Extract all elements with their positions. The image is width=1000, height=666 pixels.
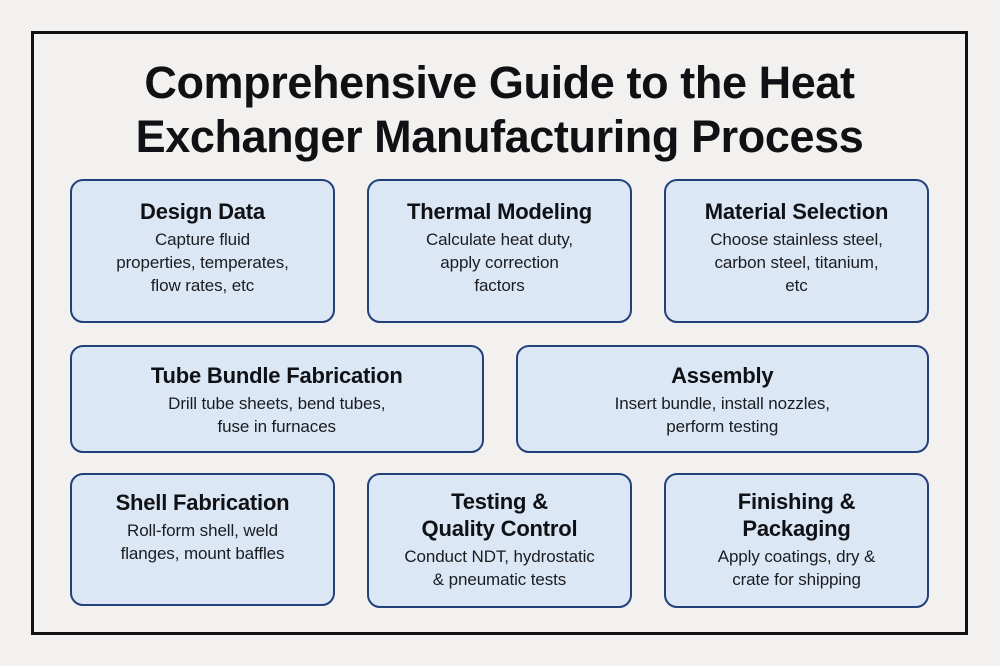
page-title: Comprehensive Guide to the Heat Exchange… (34, 34, 965, 164)
node-description: Choose stainless steel, carbon steel, ti… (710, 228, 883, 297)
process-node-shell-fabrication[interactable]: Shell Fabrication Roll-form shell, weld … (70, 473, 335, 606)
process-node-tube-bundle-fabrication[interactable]: Tube Bundle Fabrication Drill tube sheet… (70, 345, 484, 453)
node-title: Assembly (671, 362, 773, 389)
node-title: Thermal Modeling (407, 198, 592, 225)
node-description: Conduct NDT, hydrostatic & pneumatic tes… (404, 545, 594, 591)
node-description: Roll-form shell, weld flanges, mount baf… (121, 519, 285, 565)
process-node-assembly[interactable]: Assembly Insert bundle, install nozzles,… (516, 345, 930, 453)
node-description: Apply coatings, dry & crate for shipping (718, 545, 876, 591)
node-description: Capture fluid properties, temperates, fl… (116, 228, 289, 297)
node-title: Design Data (140, 198, 265, 225)
process-node-finishing-packaging[interactable]: Finishing & Packaging Apply coatings, dr… (664, 473, 929, 608)
node-description: Insert bundle, install nozzles, perform … (615, 392, 830, 438)
stage-row-1: Design Data Capture fluid properties, te… (70, 179, 929, 323)
process-stages: Design Data Capture fluid properties, te… (34, 179, 965, 608)
node-title: Tube Bundle Fabrication (151, 362, 403, 389)
node-description: Drill tube sheets, bend tubes, fuse in f… (168, 392, 385, 438)
stage-row-2: Tube Bundle Fabrication Drill tube sheet… (70, 345, 929, 453)
node-title: Finishing & Packaging (738, 488, 856, 542)
node-description: Calculate heat duty, apply correction fa… (426, 228, 573, 297)
node-title: Material Selection (705, 198, 888, 225)
process-node-material-selection[interactable]: Material Selection Choose stainless stee… (664, 179, 929, 323)
node-title: Shell Fabrication (116, 489, 290, 516)
stage-row-3: Shell Fabrication Roll-form shell, weld … (70, 473, 929, 608)
node-title: Testing & Quality Control (422, 488, 578, 542)
process-node-testing-quality-control[interactable]: Testing & Quality Control Conduct NDT, h… (367, 473, 632, 608)
process-node-thermal-modeling[interactable]: Thermal Modeling Calculate heat duty, ap… (367, 179, 632, 323)
process-node-design-data[interactable]: Design Data Capture fluid properties, te… (70, 179, 335, 323)
poster-frame: Comprehensive Guide to the Heat Exchange… (31, 31, 968, 635)
